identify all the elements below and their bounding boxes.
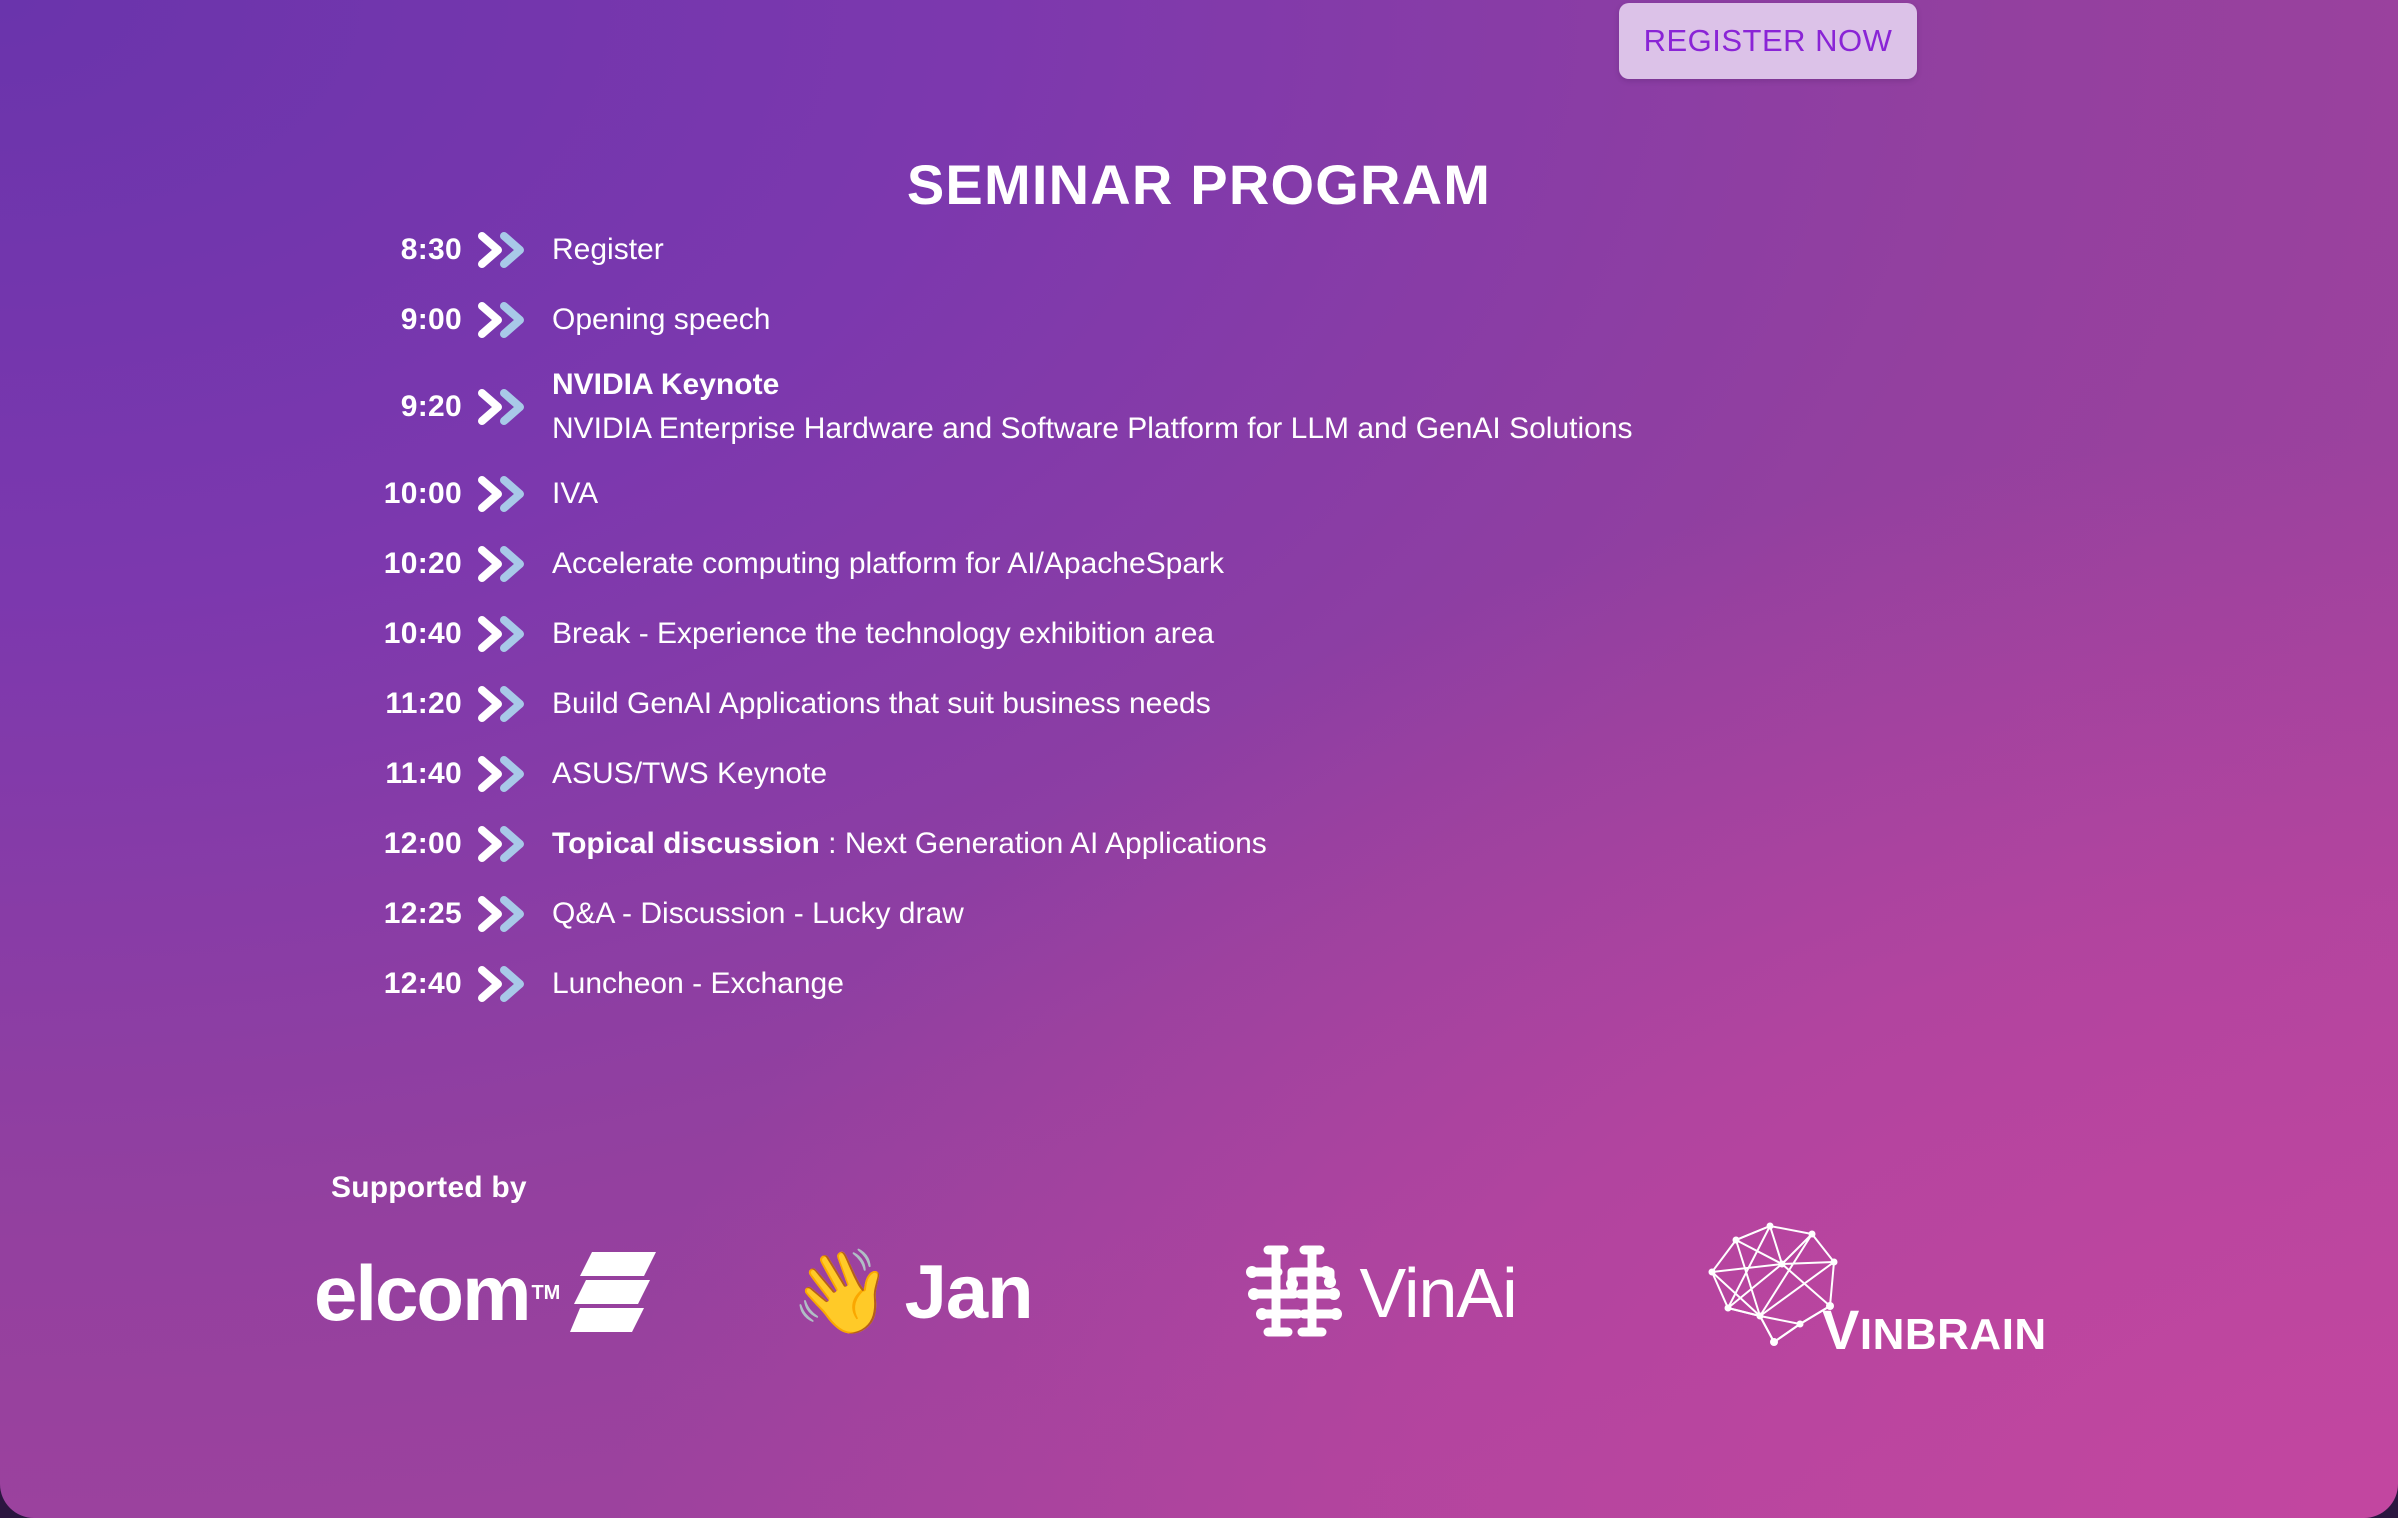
- schedule-time: 10:20: [334, 549, 462, 579]
- schedule-time: 8:30: [334, 235, 462, 265]
- sponsor-logo-elcom: elcom TM: [300, 1218, 751, 1368]
- schedule-row: 9:20 NVIDIA KeynoteNVIDIA Enterprise Har…: [334, 355, 2034, 459]
- elcom-e-mark-icon: [570, 1250, 656, 1337]
- sponsor-logo-strip: elcom TM 👋 Jan: [300, 1218, 2150, 1368]
- sponsor-logo-jan: 👋 Jan: [751, 1218, 1218, 1368]
- sponsor-logo-vinai: VinAi: [1218, 1218, 1675, 1368]
- schedule-time: 9:00: [334, 305, 462, 335]
- elcom-trademark-symbol: TM: [531, 1282, 560, 1305]
- schedule-title: Q&A - Discussion - Lucky draw: [552, 895, 2034, 933]
- schedule-title-emphasis: Topical discussion: [552, 827, 820, 860]
- sponsor-logo-vinbrain: VINBRAIN: [1674, 1218, 2150, 1368]
- seminar-program-slide: REGISTER NOW SEMINAR PROGRAM 8:30 Regist…: [0, 0, 2398, 1518]
- schedule-list: 8:30 Register9:00 Opening speech9:20 NVI…: [334, 215, 2034, 1019]
- schedule-row: 8:30 Register: [334, 215, 2034, 285]
- register-now-button[interactable]: REGISTER NOW: [1619, 3, 1917, 79]
- schedule-title: Break - Experience the technology exhibi…: [552, 615, 2034, 653]
- schedule-row: 9:00 Opening speech: [334, 285, 2034, 355]
- schedule-row: 12:00 Topical discussion : Next Generati…: [334, 809, 2034, 879]
- jan-wordmark: Jan: [905, 1255, 1033, 1331]
- schedule-body: Topical discussion : Next Generation AI …: [546, 825, 2034, 863]
- schedule-body: Luncheon - Exchange: [546, 965, 2034, 1003]
- schedule-time: 12:00: [334, 829, 462, 859]
- double-chevron-right-icon: [462, 544, 546, 584]
- double-chevron-right-icon: [462, 754, 546, 794]
- schedule-title: Luncheon - Exchange: [552, 965, 2034, 1003]
- schedule-body: Register: [546, 231, 2034, 269]
- schedule-row: 10:40 Break - Experience the technology …: [334, 599, 2034, 669]
- schedule-time: 12:25: [334, 899, 462, 929]
- schedule-title: Register: [552, 231, 2034, 269]
- schedule-time: 11:20: [334, 689, 462, 719]
- schedule-time: 10:40: [334, 619, 462, 649]
- schedule-row: 12:40 Luncheon - Exchange: [334, 949, 2034, 1019]
- supported-by-label: Supported by: [331, 1171, 527, 1205]
- schedule-body: Break - Experience the technology exhibi…: [546, 615, 2034, 653]
- schedule-row: 12:25 Q&A - Discussion - Lucky draw: [334, 879, 2034, 949]
- schedule-row: 11:40 ASUS/TWS Keynote: [334, 739, 2034, 809]
- schedule-title: Opening speech: [552, 301, 2034, 339]
- schedule-title: Topical discussion : Next Generation AI …: [552, 825, 2034, 863]
- double-chevron-right-icon: [462, 894, 546, 934]
- double-chevron-right-icon: [462, 387, 546, 427]
- double-chevron-right-icon: [462, 230, 546, 270]
- schedule-title: IVA: [552, 475, 2034, 513]
- vinbrain-initial: V: [1822, 1298, 1860, 1361]
- double-chevron-right-icon: [462, 300, 546, 340]
- schedule-title-rest: : Next Generation AI Applications: [820, 827, 1267, 860]
- schedule-body: IVA: [546, 475, 2034, 513]
- double-chevron-right-icon: [462, 684, 546, 724]
- schedule-body: Build GenAI Applications that suit busin…: [546, 685, 2034, 723]
- schedule-row: 10:20 Accelerate computing platform for …: [334, 529, 2034, 599]
- schedule-body: Q&A - Discussion - Lucky draw: [546, 895, 2034, 933]
- schedule-time: 9:20: [334, 392, 462, 422]
- schedule-body: ASUS/TWS Keynote: [546, 755, 2034, 793]
- page-title: SEMINAR PROGRAM: [0, 152, 2398, 217]
- double-chevron-right-icon: [462, 964, 546, 1004]
- schedule-title: ASUS/TWS Keynote: [552, 755, 2034, 793]
- schedule-row: 10:00 IVA: [334, 459, 2034, 529]
- schedule-body: Opening speech: [546, 301, 2034, 339]
- vinbrain-wordmark: VINBRAIN: [1822, 1302, 2047, 1358]
- vinai-circuit-mark-icon: [1238, 1236, 1348, 1351]
- schedule-time: 10:00: [334, 479, 462, 509]
- double-chevron-right-icon: [462, 614, 546, 654]
- elcom-wordmark: elcom: [314, 1254, 529, 1332]
- double-chevron-right-icon: [462, 824, 546, 864]
- vinai-wordmark: VinAi: [1360, 1258, 1517, 1328]
- schedule-title: Accelerate computing platform for AI/Apa…: [552, 545, 2034, 583]
- schedule-title: NVIDIA Keynote: [552, 366, 2034, 404]
- schedule-row: 11:20 Build GenAI Applications that suit…: [334, 669, 2034, 739]
- schedule-title: Build GenAI Applications that suit busin…: [552, 685, 2034, 723]
- schedule-subtitle: NVIDIA Enterprise Hardware and Software …: [552, 409, 2034, 448]
- vinbrain-rest: INBRAIN: [1860, 1310, 2047, 1359]
- double-chevron-right-icon: [462, 474, 546, 514]
- schedule-body: NVIDIA KeynoteNVIDIA Enterprise Hardware…: [546, 366, 2034, 447]
- waving-hand-icon: 👋: [791, 1252, 893, 1334]
- schedule-body: Accelerate computing platform for AI/Apa…: [546, 545, 2034, 583]
- schedule-time: 11:40: [334, 759, 462, 789]
- schedule-time: 12:40: [334, 969, 462, 999]
